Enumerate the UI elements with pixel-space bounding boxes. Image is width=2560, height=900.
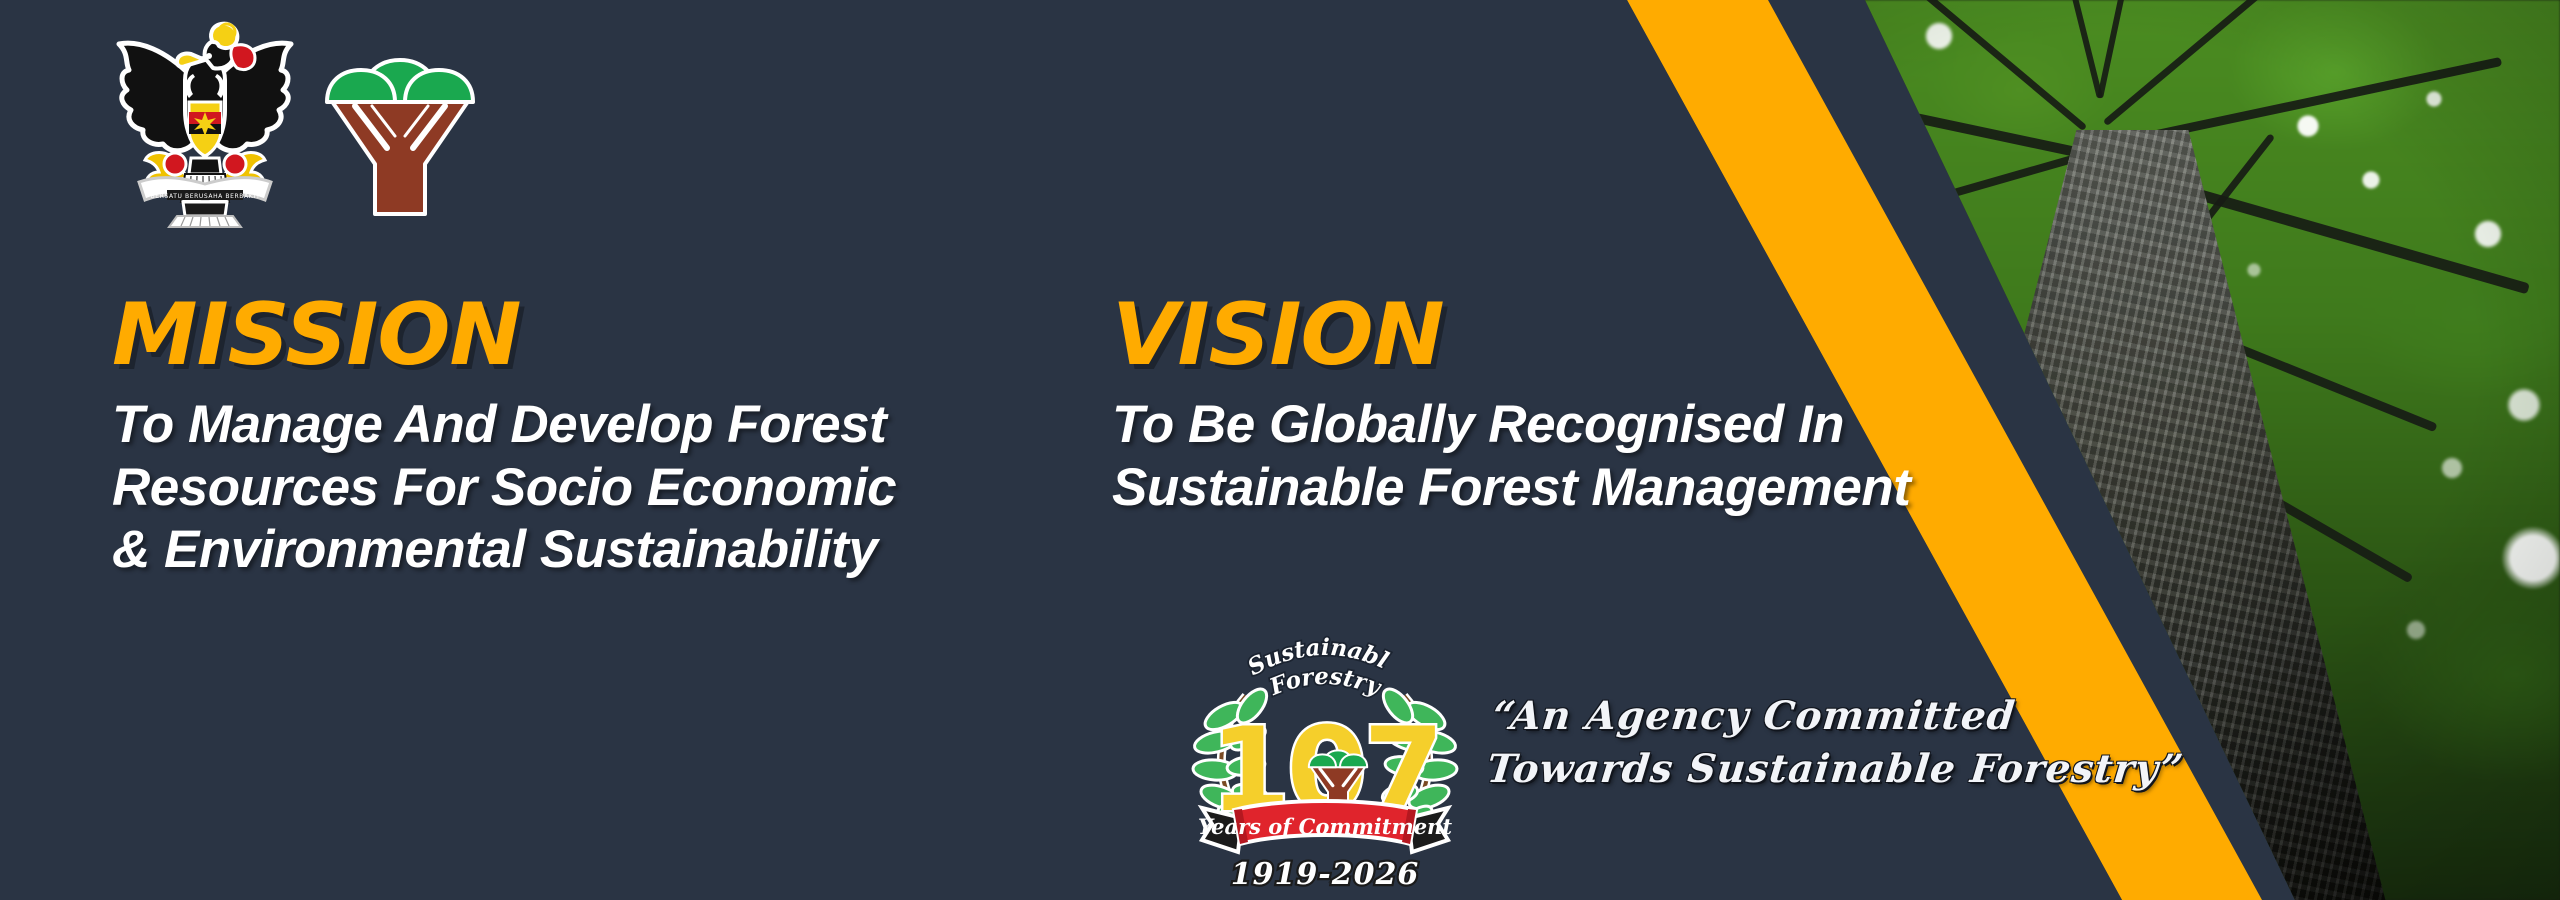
banner-content: BERSATU BERUSAHA BERBAKTI bbox=[0, 0, 1700, 900]
vision-line-2: Sustainable Forest Management bbox=[1112, 457, 2072, 520]
mission-line-3: & Environmental Sustainability bbox=[112, 519, 1012, 582]
mission-text: To Manage And Develop Forest Resources F… bbox=[112, 394, 1012, 582]
emblem-years: 1919-2026 bbox=[1231, 857, 1419, 892]
vision-text: To Be Globally Recognised In Sustainable… bbox=[1112, 394, 2072, 519]
crest-motto: BERSATU BERUSAHA BERBAKTI bbox=[151, 193, 260, 200]
tagline-line-1: “An Agency Committed bbox=[1490, 690, 2116, 743]
mission-line-2: Resources For Socio Economic bbox=[112, 457, 1012, 520]
mission-column: MISSION To Manage And Develop Forest Res… bbox=[112, 292, 1012, 582]
vision-line-1: To Be Globally Recognised In bbox=[1112, 394, 2072, 457]
mission-line-1: To Manage And Develop Forest bbox=[112, 394, 1012, 457]
tagline-line-2: Towards Sustainable Forestry” bbox=[1484, 743, 2110, 796]
sarawak-coat-of-arms-icon: BERSATU BERUSAHA BERBAKTI bbox=[105, 14, 305, 229]
logo-group: BERSATU BERUSAHA BERBAKTI bbox=[105, 14, 475, 229]
forest-department-tree-logo-icon bbox=[325, 14, 475, 219]
anniversary-emblem-107: Sustainable Forestry 107 bbox=[1190, 620, 1460, 900]
agency-tagline: “An Agency Committed Towards Sustainable… bbox=[1484, 690, 2115, 795]
vision-column: VISION To Be Globally Recognised In Sust… bbox=[1112, 292, 2072, 519]
mission-vision-banner: BERSATU BERUSAHA BERBAKTI bbox=[0, 0, 2560, 900]
emblem-ribbon: Years of Commitment bbox=[1198, 801, 1452, 852]
emblem-ribbon-text: Years of Commitment bbox=[1198, 814, 1452, 839]
mission-heading: MISSION bbox=[112, 292, 1012, 378]
vision-heading: VISION bbox=[1112, 292, 2072, 378]
